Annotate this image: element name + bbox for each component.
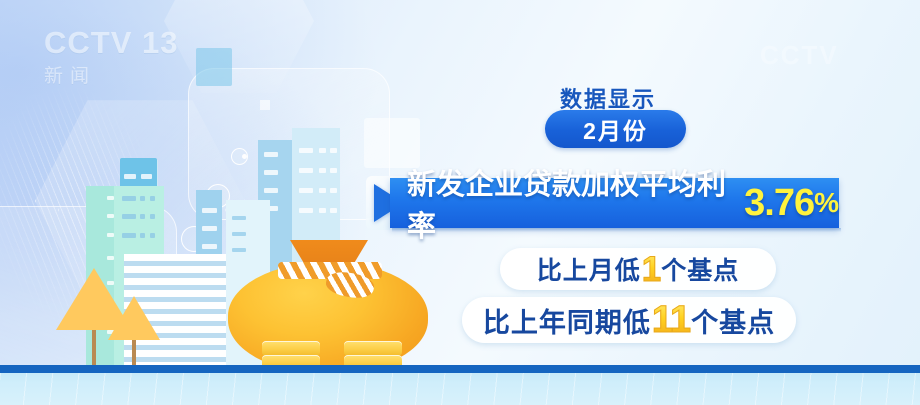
cctv-logo-watermark: CCTV 13 新闻 [44,26,184,88]
comparison-value: 1 [642,252,660,287]
comparison-value: 11 [652,301,690,339]
cctv-logo-subtitle: 新闻 [44,61,184,88]
broadcast-graphic: CCTV 13 新闻 CCTV [0,0,920,405]
comparison-prefix: 比上月低 [537,251,641,287]
metric-banner: 新发企业贷款加权平均利率 3.76 % [390,178,839,228]
comparison-pill: 比上年同期低 11 个基点 [462,297,796,343]
period-badge: 2月份 [545,110,686,148]
comparison-suffix: 个基点 [691,301,775,340]
metric-label: 新发企业贷款加权平均利率 [407,161,742,245]
cctv-ghost-watermark: CCTV [760,40,839,71]
tree-icon [108,296,160,340]
comparison-suffix: 个基点 [661,251,739,287]
period-badge-label: 2月份 [583,112,648,146]
cctv-logo-text: CCTV 13 [44,26,184,60]
ground-line [0,365,920,373]
metric-value: 3.76 [744,184,814,222]
metric-unit: % [814,187,839,219]
comparison-pill: 比上月低 1 个基点 [500,248,776,290]
floor-perspective-lines [0,373,920,405]
comparison-prefix: 比上年同期低 [483,301,651,340]
